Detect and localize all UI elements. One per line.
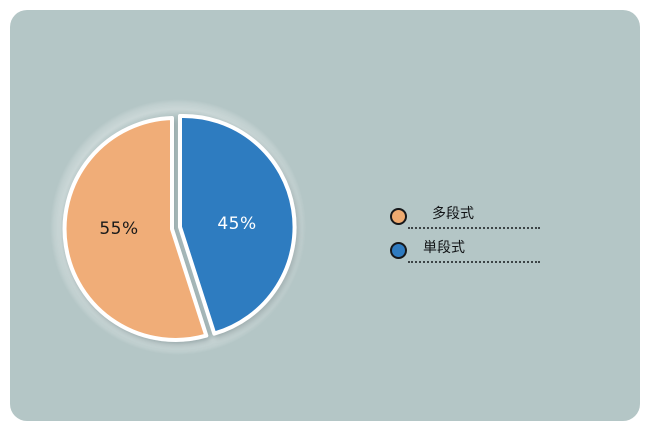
legend-item-0[interactable]: 多段式 (378, 200, 558, 230)
legend-leader-line-0 (408, 227, 540, 229)
circle-marker-blue-icon (390, 242, 407, 259)
legend-label-0: 多段式 (432, 203, 474, 223)
circle-marker-orange-icon (390, 208, 407, 225)
pie-label-blue: 45% (217, 214, 256, 234)
legend-leader-line-1 (408, 261, 540, 263)
legend-label-1: 単段式 (423, 237, 465, 257)
pie-label-orange: 55% (99, 219, 138, 239)
slide-canvas: 55% 45% 多段式 単段式 (10, 10, 640, 421)
legend-item-1[interactable]: 単段式 (378, 234, 558, 264)
chart-legend[interactable]: 多段式 単段式 (378, 200, 558, 280)
pie-chart[interactable]: 55% 45% 多段式 単段式 (10, 10, 640, 421)
